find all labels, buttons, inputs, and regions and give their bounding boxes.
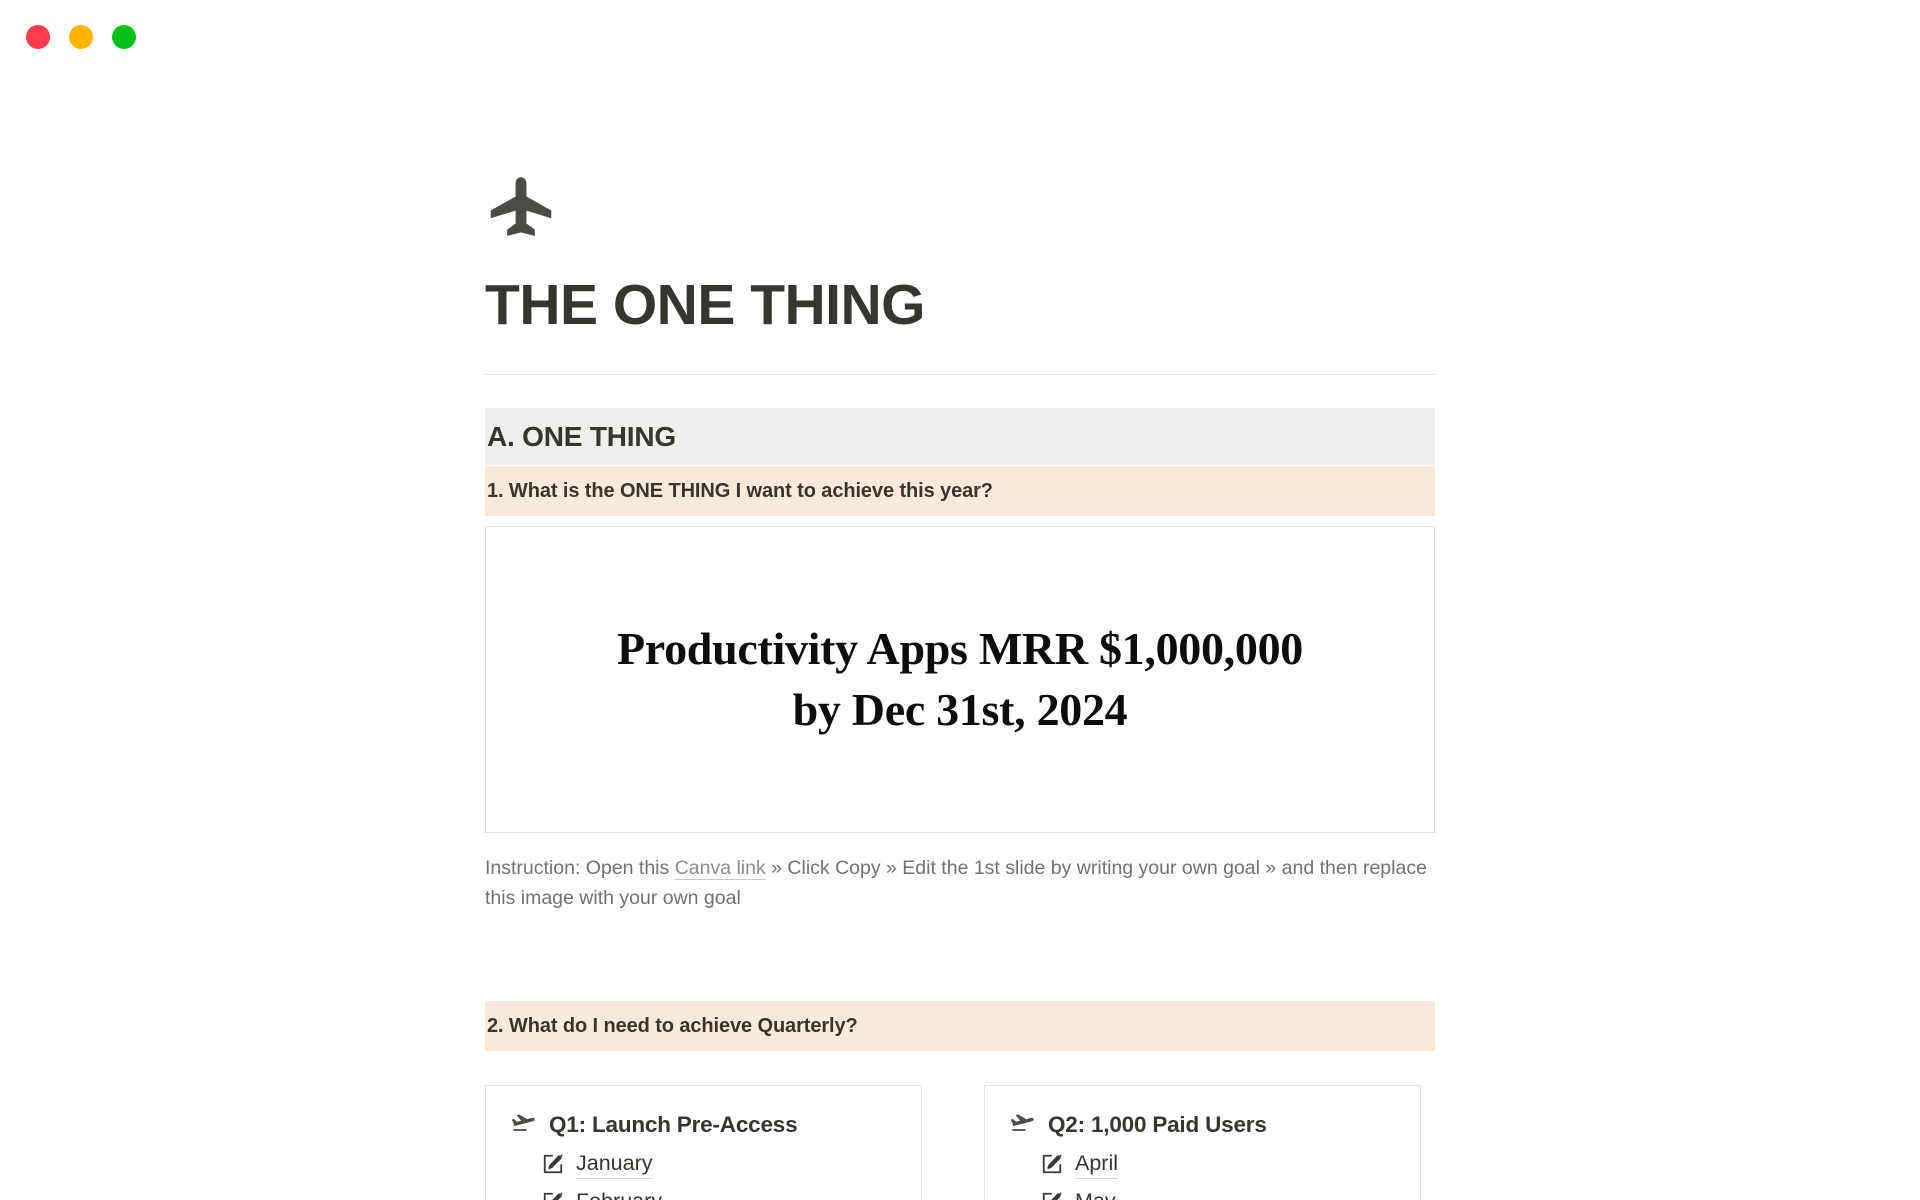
list-item[interactable]: May (1041, 1184, 1396, 1200)
goal-image[interactable]: Productivity Apps MRR $1,000,000 by Dec … (485, 526, 1435, 833)
quarter-card-q2[interactable]: Q2: 1,000 Paid Users April (984, 1085, 1421, 1200)
canva-link[interactable]: Canva link (675, 857, 766, 880)
window-titlebar (0, 0, 1920, 74)
document-content: THE ONE THING A. ONE THING 1. What is th… (485, 74, 1435, 1200)
question-1-band: 1. What is the ONE THING I want to achie… (485, 466, 1435, 516)
list-item[interactable]: February (542, 1184, 897, 1200)
airplane-departure-icon (510, 1112, 536, 1138)
month-link-april[interactable]: April (1075, 1150, 1118, 1179)
month-link-may[interactable]: May (1075, 1188, 1116, 1200)
edit-icon (542, 1191, 564, 1200)
edit-icon (1041, 1191, 1063, 1200)
page-title: THE ONE THING (485, 274, 1435, 337)
goal-text: Productivity Apps MRR $1,000,000 by Dec … (617, 618, 1303, 740)
quarter-card-q1-title: Q1: Launch Pre-Access (549, 1112, 797, 1138)
quarter-card-q1-header: Q1: Launch Pre-Access (510, 1112, 897, 1138)
quarter-card-q2-month-list: April May (1009, 1146, 1396, 1200)
quarter-card-q2-title: Q2: 1,000 Paid Users (1048, 1112, 1267, 1138)
goal-text-line-2: by Dec 31st, 2024 (617, 679, 1303, 740)
quarter-card-row: Q1: Launch Pre-Access January (485, 1085, 1435, 1200)
month-link-february[interactable]: February (576, 1188, 662, 1200)
instruction-prefix: Instruction: Open this (485, 857, 675, 879)
question-1-label: 1. What is the ONE THING I want to achie… (487, 477, 1435, 505)
quarter-card-q1-month-list: January February (510, 1146, 897, 1200)
airplane-departure-icon (1009, 1112, 1035, 1138)
question-2-band: 2. What do I need to achieve Quarterly? (485, 1001, 1435, 1051)
list-item[interactable]: April (1041, 1146, 1396, 1184)
list-item[interactable]: January (542, 1146, 897, 1184)
question-2-label: 2. What do I need to achieve Quarterly? (487, 1012, 1435, 1040)
goal-text-line-1: Productivity Apps MRR $1,000,000 (617, 618, 1303, 679)
quarter-card-q1[interactable]: Q1: Launch Pre-Access January (485, 1085, 922, 1200)
airplane-icon[interactable] (487, 172, 1435, 248)
section-heading-one-thing: A. ONE THING (485, 408, 1435, 465)
quarter-card-q2-header: Q2: 1,000 Paid Users (1009, 1112, 1396, 1138)
edit-icon (542, 1153, 564, 1175)
close-window-button[interactable] (26, 25, 50, 49)
section-heading-label: A. ONE THING (487, 419, 1435, 454)
minimize-window-button[interactable] (69, 25, 93, 49)
edit-icon (1041, 1153, 1063, 1175)
instruction-text: Instruction: Open this Canva link » Clic… (485, 853, 1430, 913)
month-link-january[interactable]: January (576, 1150, 653, 1179)
maximize-window-button[interactable] (112, 25, 136, 49)
document-page: THE ONE THING A. ONE THING 1. What is th… (0, 74, 1920, 1200)
title-divider (485, 374, 1435, 375)
traffic-light-group (26, 25, 136, 49)
